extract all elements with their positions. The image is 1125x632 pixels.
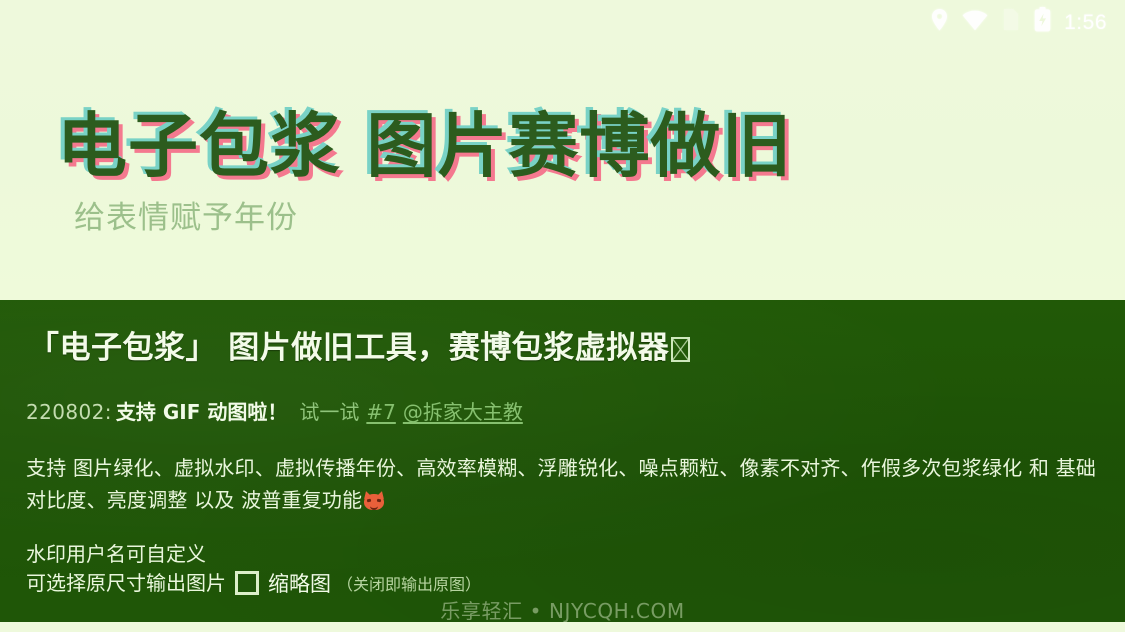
thumbnail-checkbox[interactable] [235,571,259,595]
changelog-try-label: 试一试 [299,400,359,424]
sim-signal-icon [1001,8,1021,36]
changelog-date: 220802: [26,400,112,424]
watermark-note: 水印用户名可自定义 [26,540,206,568]
page-title: 电子包浆 图片赛博做旧 [57,103,792,189]
hero-banner: 1:56 电子包浆 图片赛博做旧 给表情赋予年份 [0,0,1125,300]
status-bar-clock: 1:56 [1064,12,1107,33]
section-title-text: 「电子包浆」 图片做旧工具，赛博包浆虚拟器 [28,330,669,366]
location-pin-icon [930,8,949,37]
battery-icon [1034,7,1051,37]
feature-description: 支持 图片绿化、虚拟水印、虚拟传播年份、高效率模糊、浮雕锐化、噪点颗粒、像素不对… [26,452,1101,516]
changelog-message: 支持 GIF 动图啦！ [116,400,287,424]
thumbnail-checkbox-label[interactable]: 缩略图 [268,568,331,598]
thumbnail-checkbox-hint: （关闭即输出原图） [337,571,481,595]
missing-glyph-tofu-icon [671,337,690,362]
app-root: 1:56 电子包浆 图片赛博做旧 给表情赋予年份 「电子包浆」 图片做旧工具，赛… [0,0,1125,632]
smiling-face-with-horns-icon [363,491,385,511]
section-title: 「电子包浆」 图片做旧工具，赛博包浆虚拟器 [28,327,690,369]
bottom-strip [0,622,1125,632]
changelog-tag-link[interactable]: #7 [366,400,395,424]
changelog-line: 220802:支持 GIF 动图啦！试一试#7@拆家大主教 [26,397,523,427]
size-note-label: 可选择原尺寸输出图片 [26,569,226,597]
changelog-author-link[interactable]: @拆家大主教 [403,400,523,424]
page-subtitle: 给表情赋予年份 [74,197,298,239]
wifi-icon [962,9,988,36]
thumbnail-option-row: 可选择原尺寸输出图片 缩略图 （关闭即输出原图） [26,568,481,598]
feature-description-text: 支持 图片绿化、虚拟水印、虚拟传播年份、高效率模糊、浮雕锐化、噪点颗粒、像素不对… [26,456,1096,512]
status-bar: 1:56 [0,0,1125,44]
